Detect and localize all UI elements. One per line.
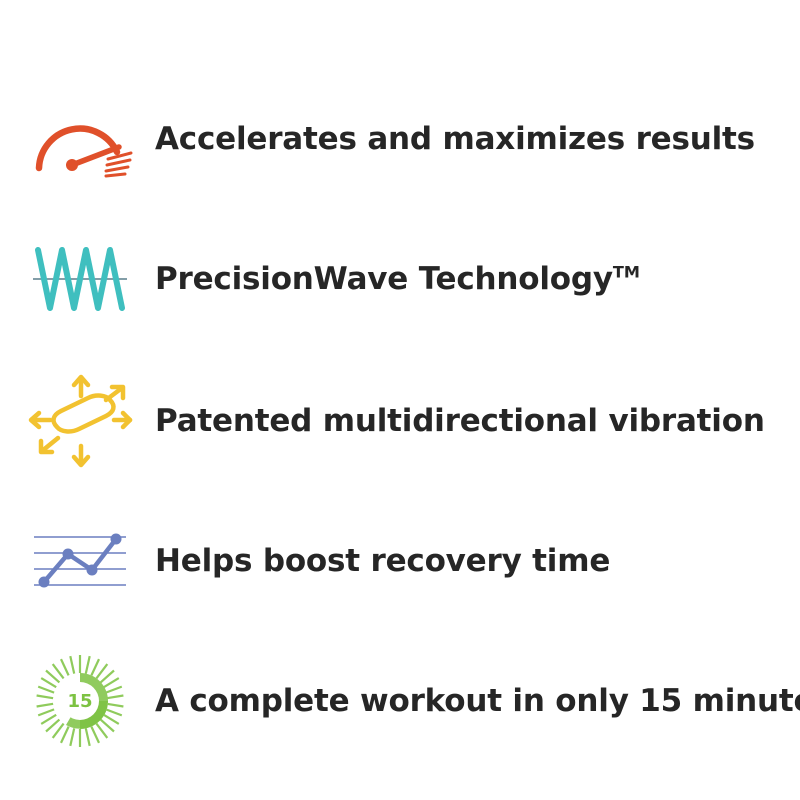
feature-label: Helps boost recovery time — [155, 544, 610, 578]
feature-row: PrecisionWave TechnologyTM — [0, 210, 800, 348]
multidirectional-platform-icon — [0, 370, 155, 472]
speedometer-icon — [0, 100, 155, 178]
feature-list: Accelerates and maximizes results Precis… — [0, 0, 800, 800]
feature-label: Patented multidirectional vibration — [155, 404, 765, 438]
radial-timer-icon: 15 — [0, 651, 155, 751]
feature-label: A complete workout in only 15 minutes — [155, 684, 800, 718]
feature-row: 15 A complete workout in only 15 minutes — [0, 632, 800, 770]
trademark-symbol: TM — [613, 263, 640, 282]
feature-row: Accelerates and maximizes results — [0, 70, 800, 208]
feature-row: Helps boost recovery time — [0, 492, 800, 630]
feature-row: Patented multidirectional vibration — [0, 352, 800, 490]
feature-label-text: PrecisionWave Technology — [155, 261, 613, 297]
feature-label: PrecisionWave TechnologyTM — [155, 262, 640, 296]
line-chart-icon — [0, 527, 155, 595]
radial-timer-center-label: 15 — [67, 691, 92, 712]
feature-label: Accelerates and maximizes results — [155, 122, 755, 156]
sine-wave-icon — [0, 244, 155, 314]
